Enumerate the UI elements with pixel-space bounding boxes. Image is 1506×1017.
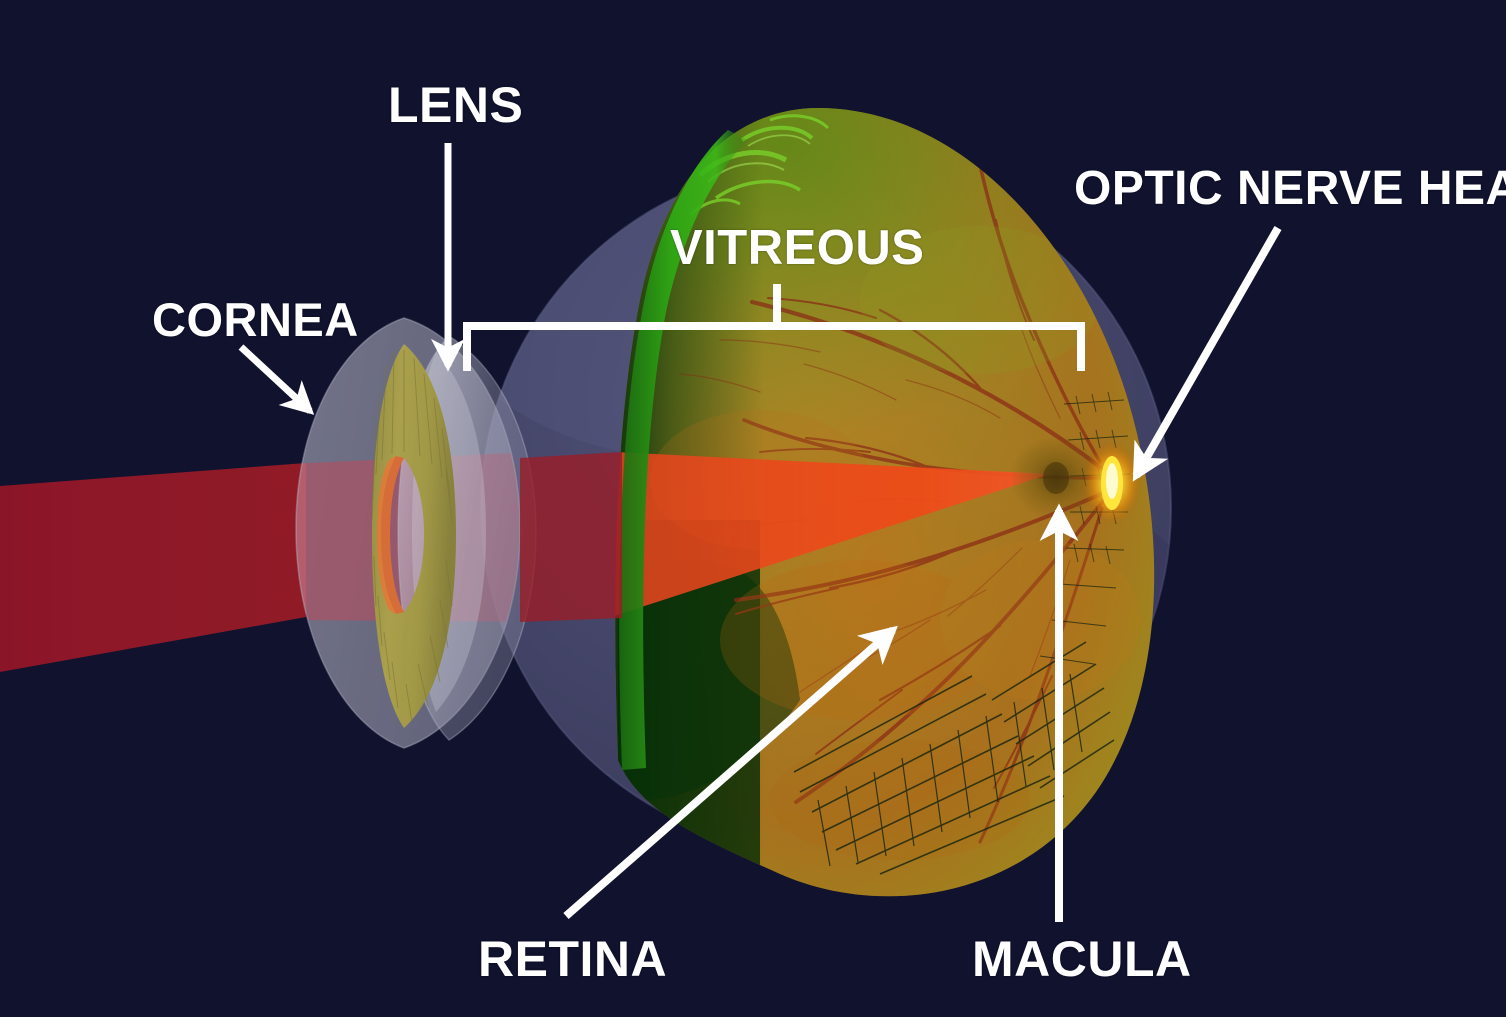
retina-leader-arrow bbox=[566, 630, 893, 916]
vitreous-bracket bbox=[463, 284, 1085, 371]
eye-anatomy-figure: CORNEA LENS VITREOUS OPTIC NERVE HEAD RE… bbox=[0, 0, 1506, 1017]
label-retina: RETINA bbox=[478, 934, 667, 984]
label-lens: LENS bbox=[388, 80, 523, 130]
cornea-leader-arrow bbox=[241, 347, 310, 411]
label-macula: MACULA bbox=[972, 934, 1192, 984]
optic-nerve-head-leader-arrow bbox=[1136, 228, 1278, 476]
label-cornea: CORNEA bbox=[152, 296, 359, 343]
annotation-layer bbox=[0, 0, 1506, 1017]
label-vitreous: VITREOUS bbox=[670, 224, 924, 273]
label-optic-nerve-head: OPTIC NERVE HEAD bbox=[1074, 165, 1506, 213]
